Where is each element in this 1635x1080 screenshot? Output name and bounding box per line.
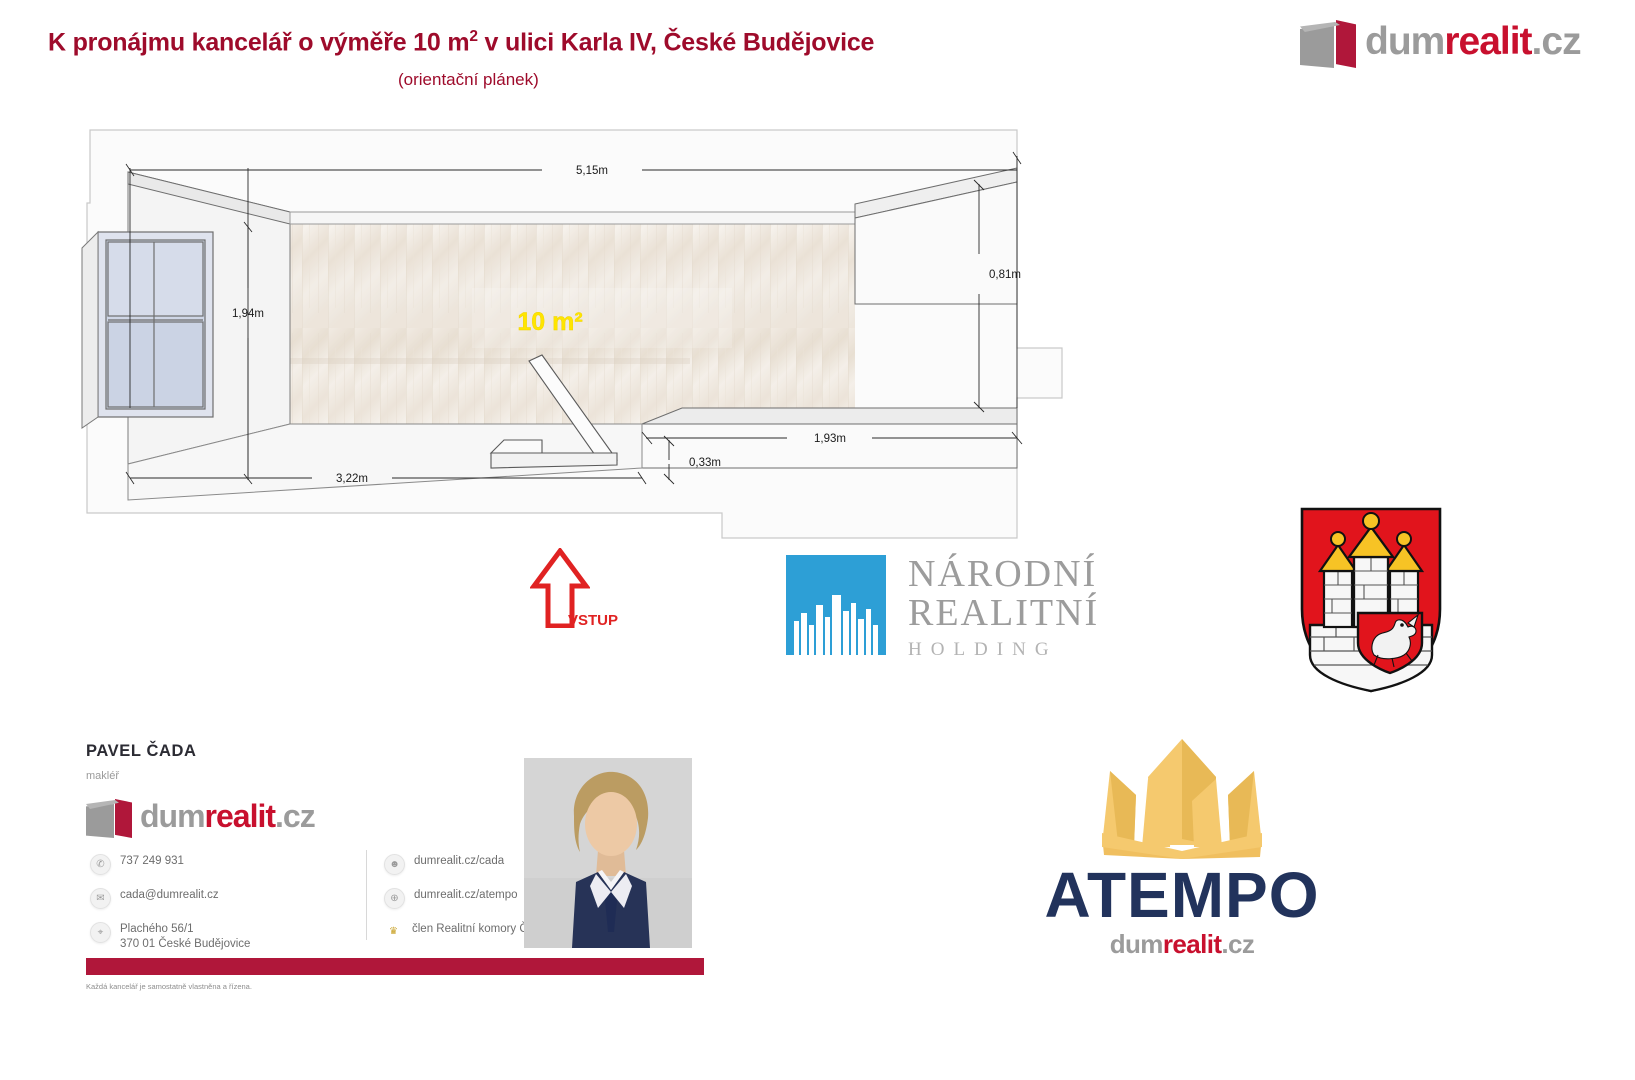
atempo-sub-realit: realit (1163, 929, 1222, 959)
location-icon: ⌖ (90, 922, 111, 943)
dimension-right-height: 0,81m (989, 269, 1021, 281)
dumrealit-word-cz: .cz (1532, 20, 1581, 63)
dumrealit-wordmark: dumrealit.cz (1365, 22, 1581, 61)
nrh-skyline-icon (786, 555, 886, 655)
contact-row-email[interactable]: ✉ cada@dumrealit.cz (90, 888, 320, 909)
agent-address: Plachého 56/1 370 01 České Budějovice (120, 922, 250, 952)
page-title-prefix: K pronájmu kancelář o výměře 10 m (48, 28, 469, 56)
dimension-alcove-height: 0,33m (689, 457, 721, 469)
contact-row-address[interactable]: ⌖ Plachého 56/1 370 01 České Budějovice (90, 922, 320, 952)
dimension-top-width: 5,15m (576, 165, 608, 177)
agent-word-realit: realit (205, 798, 275, 834)
atempo-sub-cz: .cz (1221, 929, 1254, 959)
narodni-realitni-holding-logo: NÁRODNÍ REALITNÍ HOLDING (786, 555, 1099, 661)
agent-name: PAVEL ČADA (86, 742, 197, 761)
atempo-crown-icon (1002, 735, 1362, 860)
agent-accent-bar (86, 958, 704, 975)
page-title-superscript: 2 (469, 28, 477, 45)
agent-role: makléř (86, 770, 119, 782)
nrh-wordmark: NÁRODNÍ REALITNÍ HOLDING (908, 555, 1099, 661)
atempo-sub-dum: dum (1110, 929, 1163, 959)
contact-column-left: ✆ 737 249 931 ✉ cada@dumrealit.cz ⌖ Plac… (90, 854, 320, 965)
atempo-sub-wordmark: dumrealit.cz (1002, 931, 1362, 957)
nrh-line-realitni: REALITNÍ (908, 594, 1099, 633)
room-area-label: 10 m² (517, 308, 582, 336)
agent-phone: 737 249 931 (120, 854, 184, 869)
page-title: K pronájmu kancelář o výměře 10 m2 v uli… (48, 28, 874, 57)
agent-word-cz: .cz (275, 798, 315, 834)
page-title-suffix: v ulici Karla IV, České Budějovice (478, 28, 874, 56)
globe-icon: ⊕ (384, 888, 405, 909)
dimension-alcove-width: 1,93m (814, 433, 846, 445)
agent-dumrealit-logo: dumrealit.cz (86, 794, 315, 838)
dumrealit-logo: dumrealit.cz (1300, 14, 1581, 68)
atempo-logo: ATEMPO dumrealit.cz (1002, 735, 1362, 950)
agent-disclaimer: Každá kancelář je samostatně vlastněna a… (86, 982, 252, 991)
agent-email: cada@dumrealit.cz (120, 888, 219, 903)
agent-profile-url: dumrealit.cz/cada (414, 854, 504, 869)
floorplan-drawing: 5,15m 1,94m 0,81m 3,22m 1,93m 0,33m 10 m… (42, 108, 1092, 558)
crown-icon: ♛ (384, 922, 403, 941)
agent-photo (524, 758, 692, 948)
dumrealit-word-dum: dum (1365, 20, 1444, 63)
dumrealit-word-realit: realit (1444, 20, 1531, 63)
contact-row-phone[interactable]: ✆ 737 249 931 (90, 854, 320, 875)
agent-office-url: dumrealit.cz/atempo (414, 888, 518, 903)
agent-membership: člen Realitní komory ČR (412, 922, 536, 937)
agent-dumrealit-mark-icon (86, 794, 132, 838)
agent-dumrealit-wordmark: dumrealit.cz (140, 800, 315, 832)
phone-icon: ✆ (90, 854, 111, 875)
agent-word-dum: dum (140, 798, 205, 834)
dimension-bottom-width: 3,22m (336, 473, 368, 485)
ceske-budejovice-coat-of-arms-icon (1296, 505, 1446, 695)
atempo-wordmark: ATEMPO (1002, 863, 1362, 927)
email-icon: ✉ (90, 888, 111, 909)
dimension-left-height: 1,94m (232, 308, 264, 320)
dumrealit-mark-icon (1300, 14, 1356, 68)
nrh-line-holding: HOLDING (908, 639, 1099, 661)
page-subtitle: (orientační plánek) (398, 70, 539, 90)
agent-contact-card: PAVEL ČADA makléř dumrealit.cz ✆ 737 249… (86, 742, 706, 987)
profile-icon: ☻ (384, 854, 405, 875)
entry-label: VSTUP (568, 612, 618, 629)
nrh-line-narodni: NÁRODNÍ (908, 555, 1099, 594)
contact-divider (366, 850, 367, 940)
